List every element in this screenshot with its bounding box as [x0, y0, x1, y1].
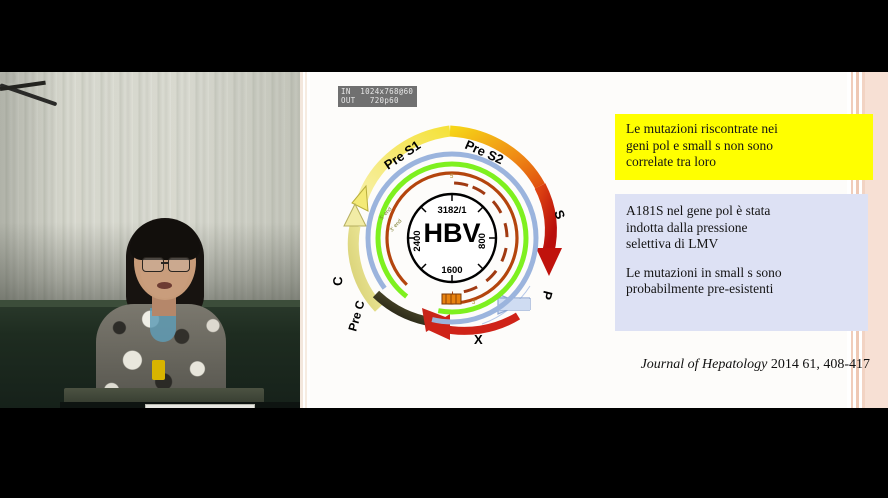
label-5prime: 5' — [450, 174, 454, 180]
blue-p2-line-1: Le mutazioni in small s sono — [626, 265, 858, 282]
glasses-left-lens — [142, 257, 164, 272]
label-p: P — [539, 289, 556, 301]
speaker-fringe — [130, 220, 200, 260]
label-3prime: 3' — [472, 300, 476, 306]
yellow-callout-box: Le mutazioni riscontrate nei geni pol e … — [615, 114, 873, 180]
diagram-center-label: HBV — [423, 218, 480, 248]
yellow-line-3: correlate tra loro — [626, 154, 864, 171]
scale-label-2400: 2400 — [412, 230, 423, 251]
presentation-slide: IN 1024x768@60 OUT 720p60 — [300, 72, 888, 408]
paragraph-spacer — [626, 253, 858, 265]
label-pre-c: Pre C — [345, 299, 367, 333]
speaker-mouth — [157, 282, 172, 289]
gene-arrow-c — [344, 204, 379, 308]
speaker-badge — [152, 360, 165, 380]
yellow-line-2: geni pol e small s non sono — [626, 138, 864, 155]
primer-box — [442, 294, 461, 304]
slide-left-border-stripes — [300, 72, 310, 408]
label-x: X — [474, 332, 483, 347]
scale-label-1600: 1600 — [441, 265, 462, 276]
scale-label-3182: 3182/1 — [437, 205, 467, 216]
speaker-nameplate: S. GIACHE — [145, 404, 255, 408]
osd-line-out: OUT 720p60 — [341, 96, 399, 105]
gene-arrow-s — [536, 186, 562, 276]
speaker-camera-panel: S. GIACHE — [0, 72, 300, 408]
glasses-right-lens — [168, 257, 190, 272]
scale-label-800: 800 — [477, 233, 488, 249]
blue-p1-line-1: A181S nel gene pol è stata — [626, 203, 858, 220]
hbv-genome-diagram: HBV 3182/1 1600 800 2400 Pre S1 Pre S2 S… — [322, 108, 612, 358]
glasses-bridge — [161, 262, 169, 264]
citation-rest: 2014 61, 408-417 — [767, 357, 870, 372]
slide-citation: Journal of Hepatology 2014 61, 408-417 — [540, 357, 870, 373]
blue-p1-line-2: indotta dalla pressione — [626, 220, 858, 237]
label-c: C — [330, 276, 345, 287]
blue-p2-line-2: probabilmente pre-esistenti — [626, 281, 858, 298]
video-content-band: S. GIACHE IN 1024x768@60 OUT 720p60 — [0, 72, 888, 408]
yellow-line-1: Le mutazioni riscontrate nei — [626, 121, 864, 138]
blue-p1-line-3: selettiva di LMV — [626, 236, 858, 253]
osd-resolution-overlay: IN 1024x768@60 OUT 720p60 — [338, 86, 417, 107]
citation-journal: Journal of Hepatology — [641, 357, 768, 372]
blue-callout-box: A181S nel gene pol è stata indotta dalla… — [615, 194, 868, 331]
video-frame: S. GIACHE IN 1024x768@60 OUT 720p60 — [0, 0, 888, 498]
